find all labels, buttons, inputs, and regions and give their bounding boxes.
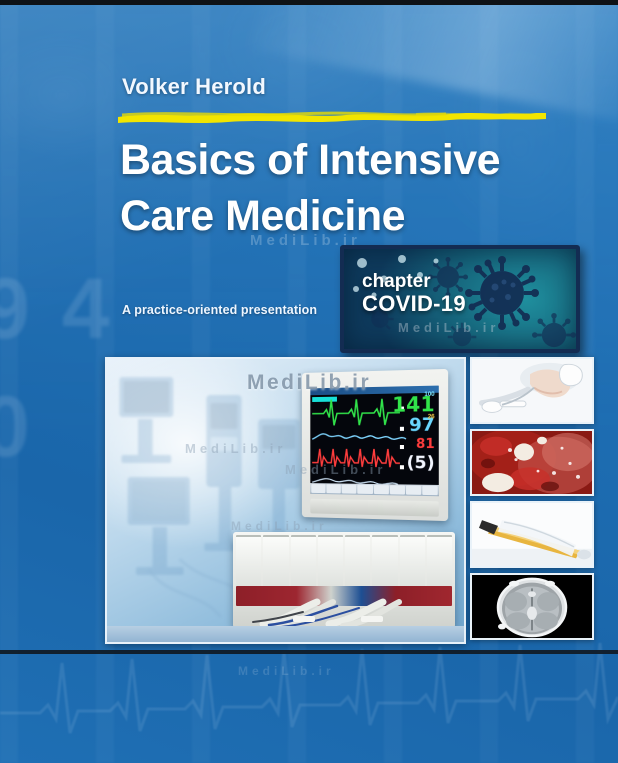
patient-monitor: 141 97 81 (5) 100 26 bbox=[302, 369, 448, 521]
cover-lower-edge bbox=[0, 650, 618, 654]
monitor-softkey[interactable] bbox=[390, 485, 405, 494]
pump-module[interactable] bbox=[318, 535, 343, 587]
monitor-softkey[interactable] bbox=[358, 485, 373, 494]
pump-modules bbox=[236, 535, 452, 587]
monitor-vitals: 141 97 81 (5) bbox=[392, 394, 434, 473]
pump-module[interactable] bbox=[291, 535, 316, 587]
author-name: Volker Herold bbox=[122, 74, 266, 100]
vital-small-top: 100 bbox=[424, 392, 434, 398]
monitor-softkey-bar[interactable] bbox=[310, 483, 438, 496]
book-cover: 9 4 0 Volker Herold Basics of Intensive … bbox=[0, 0, 618, 763]
monitor-softkey[interactable] bbox=[327, 484, 342, 493]
monitor-screen: 141 97 81 (5) 100 26 bbox=[310, 386, 438, 497]
title-line-2: Care Medicine bbox=[120, 188, 570, 244]
covid-chapter-badge: chapter COVID-19 bbox=[340, 245, 580, 353]
covid-badge-line-2: COVID-19 bbox=[362, 292, 466, 317]
page-title: Basics of Intensive Care Medicine bbox=[120, 132, 570, 244]
pump-module[interactable] bbox=[263, 535, 288, 587]
vital-small-second: 26 bbox=[428, 414, 435, 420]
pump-module[interactable] bbox=[427, 535, 452, 587]
title-line-1: Basics of Intensive bbox=[120, 132, 570, 188]
icu-photo: 141 97 81 (5) 100 26 bbox=[105, 357, 466, 644]
monitor-softkey[interactable] bbox=[422, 486, 438, 495]
monitor-softkey[interactable] bbox=[373, 485, 388, 494]
covid-badge-text: chapter COVID-19 bbox=[362, 271, 466, 317]
vital-blood-pressure: 81 bbox=[392, 438, 434, 451]
cover-top-edge bbox=[0, 0, 618, 5]
monitor-bezel bbox=[310, 499, 438, 517]
pump-tubing bbox=[233, 594, 455, 628]
highlight-stroke bbox=[116, 106, 548, 124]
subtitle: A practice-oriented presentation bbox=[122, 303, 317, 317]
thumbnail-tracheal-tube-stylet[interactable] bbox=[470, 501, 594, 568]
thumbnail-strip bbox=[470, 357, 594, 640]
monitor-softkey[interactable] bbox=[311, 484, 325, 493]
thumbnail-head-ct-scan[interactable] bbox=[470, 573, 594, 640]
vital-cvp: (5) bbox=[392, 455, 434, 473]
pump-module[interactable] bbox=[400, 535, 425, 587]
pump-module[interactable] bbox=[236, 535, 261, 587]
monitor-softkey[interactable] bbox=[342, 485, 357, 494]
pump-module[interactable] bbox=[345, 535, 370, 587]
thumbnail-airway-intubation-equipment[interactable] bbox=[470, 357, 594, 424]
thumbnail-endoscopic-airway-view[interactable] bbox=[470, 429, 594, 496]
icu-desk-surface bbox=[107, 626, 464, 642]
monitor-softkey[interactable] bbox=[406, 485, 421, 494]
covid-badge-line-1: chapter bbox=[362, 271, 466, 292]
infusion-pump-stack bbox=[233, 532, 455, 628]
pump-module[interactable] bbox=[372, 535, 397, 587]
